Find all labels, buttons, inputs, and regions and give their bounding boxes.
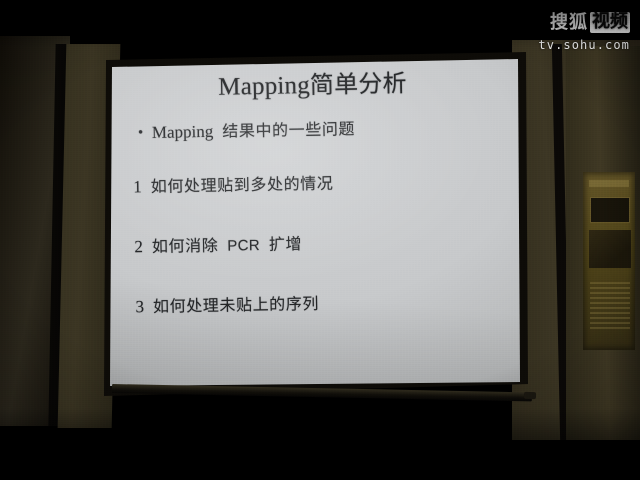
slide-item-number: 2: [134, 237, 143, 257]
slide-item-number: 3: [135, 297, 144, 317]
bullet-dot-icon: •: [138, 125, 143, 138]
wall-poster: [583, 172, 635, 350]
presentation-slide: Mapping简单分析 • Mapping 结果中的一些问题 1 如何处理贴到多…: [110, 58, 520, 386]
slide-title-cjk: 简单分析: [310, 69, 407, 99]
watermark-brand-boxed: 视频: [590, 12, 630, 33]
slide-numbered-item: 2 如何消除PCR 扩增: [134, 231, 504, 257]
slide-item-text-before: 如何消除: [152, 237, 219, 257]
slide-item-text: 如何处理未贴上的序列: [153, 295, 319, 316]
slide-item-text: 如何处理贴到多处的情况: [151, 175, 334, 197]
sohu-watermark: 搜狐 视频 tv.sohu.com: [538, 12, 630, 52]
photograph: Mapping简单分析 • Mapping 结果中的一些问题 1 如何处理贴到多…: [0, 0, 640, 480]
slide-numbered-item: 3 如何处理未贴上的序列: [135, 291, 505, 317]
slide-bullet-cjk: 结果中的一些问题: [222, 120, 355, 141]
slide-bullet-item: • Mapping 结果中的一些问题: [138, 116, 508, 142]
slide-numbered-item: 1 如何处理贴到多处的情况: [133, 171, 503, 197]
slide-title: Mapping简单分析: [110, 68, 518, 103]
projection-screen-surface: Mapping简单分析 • Mapping 结果中的一些问题 1 如何处理贴到多…: [110, 58, 520, 386]
slide-item-text-after: 扩增: [269, 235, 303, 254]
poster-text-lines: [590, 282, 630, 330]
slide-bullet-latin: Mapping: [152, 122, 214, 143]
watermark-brand-plain: 搜狐: [550, 14, 588, 32]
poster-image: [589, 230, 631, 268]
poster-title-block: [591, 198, 629, 222]
screen-roller-end-cap: [524, 392, 536, 399]
poster-header-band: [589, 180, 629, 187]
watermark-brand: 搜狐 视频: [538, 12, 630, 33]
slide-item-number: 1: [133, 177, 142, 197]
slide-title-latin: Mapping: [218, 72, 310, 101]
watermark-url: tv.sohu.com: [538, 38, 630, 52]
slide-item-acronym: PCR: [227, 237, 260, 255]
